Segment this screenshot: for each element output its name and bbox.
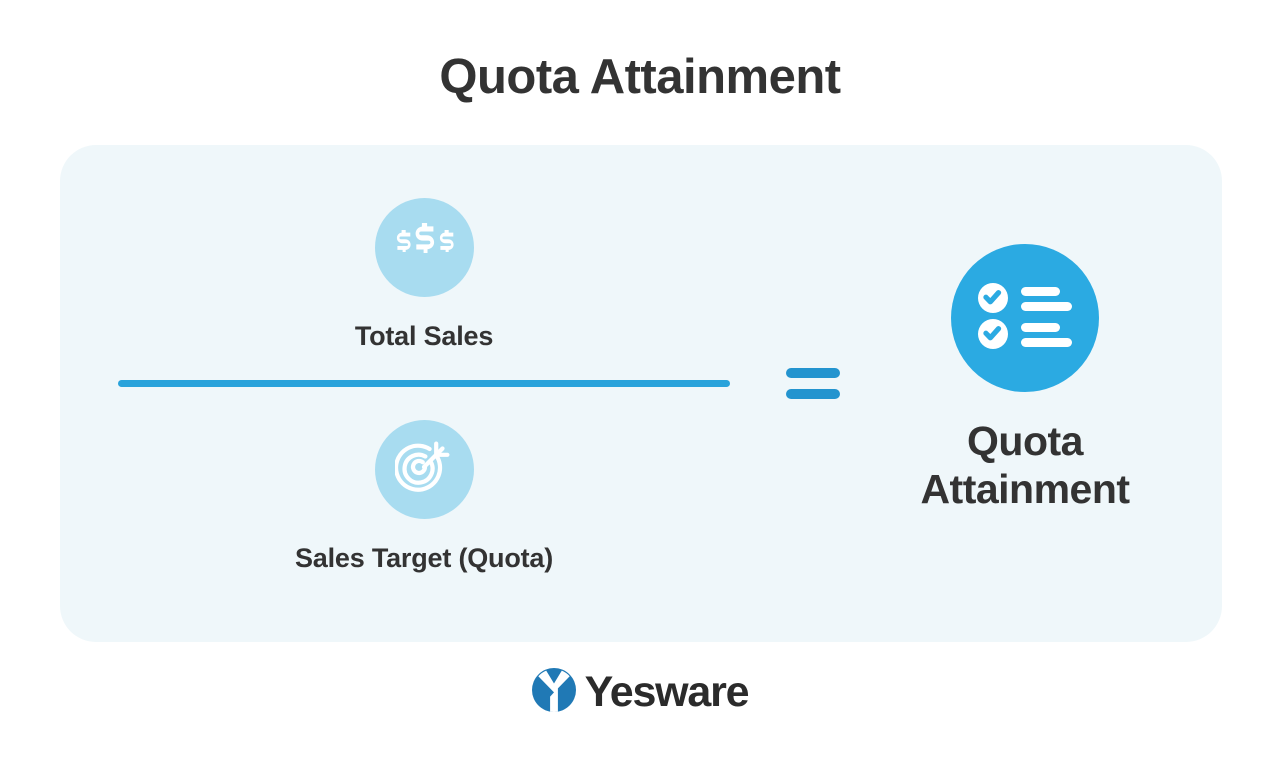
quota-attainment-label-line2: Attainment [860,466,1190,514]
quota-attainment-label: Quota Attainment [860,418,1190,514]
quota-attainment-label-line1: Quota [860,418,1190,466]
equals-bar-bottom [786,389,840,399]
checklist-icon [978,283,1072,354]
fraction-group: Total Sales [118,198,730,588]
page-title: Quota Attainment [0,49,1280,105]
equals-bar-top [786,368,840,378]
total-sales-label: Total Sales [118,321,730,352]
brand-wordmark: Yesware [585,671,749,714]
total-sales-icon-badge [375,198,474,297]
equals-sign-icon [786,368,840,408]
fraction-bar [118,380,730,387]
dollar-signs-icon [393,223,455,272]
target-bullseye-icon [395,438,453,501]
sales-target-icon-badge [375,420,474,519]
fraction-denominator: Sales Target (Quota) [118,420,730,574]
sales-target-label: Sales Target (Quota) [118,543,730,574]
brand-logo: Yesware [0,668,1280,717]
quota-attainment-icon-badge [951,244,1099,392]
yesware-y-logo-icon [532,668,576,717]
fraction-numerator: Total Sales [118,198,730,352]
result-group: Quota Attainment [860,244,1190,514]
infographic-page: Quota Attainment [0,0,1280,758]
